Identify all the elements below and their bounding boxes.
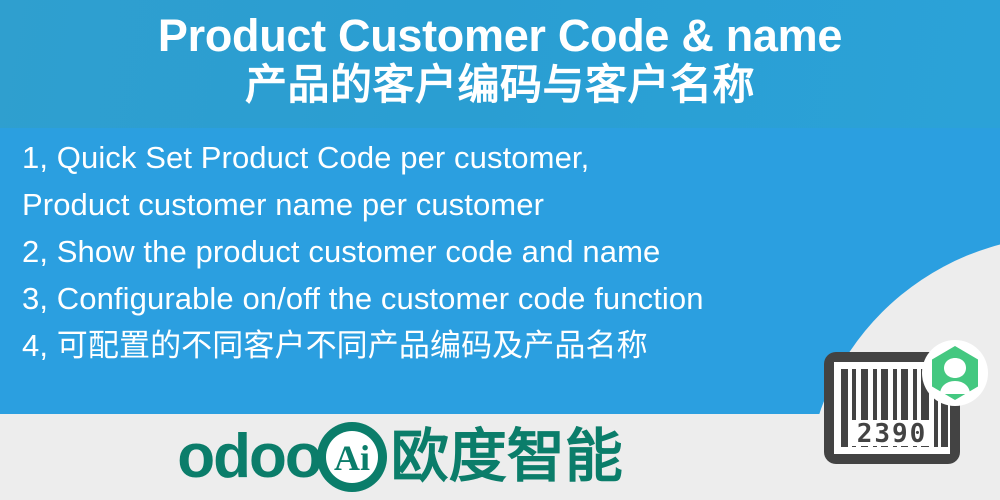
promo-banner: Product Customer Code & name 产品的客户编码与客户名… (0, 0, 1000, 500)
brand-logo: odoo Ai 欧度智能 (177, 420, 623, 494)
feature-line-2: Product customer name per customer (22, 181, 982, 228)
feature-line-1: 1, Quick Set Product Code per customer, (22, 134, 982, 181)
feature-list: 1, Quick Set Product Code per customer, … (22, 134, 982, 369)
brand-wordmark-cn: 欧度智能 (391, 428, 623, 486)
page-title: Product Customer Code & name (158, 0, 842, 62)
page-subtitle: 产品的客户编码与客户名称 (245, 62, 755, 108)
ai-badge-label: Ai (334, 438, 370, 478)
feature-line-4: 3, Configurable on/off the customer code… (22, 275, 982, 322)
barcode-illustration: 2390 (820, 338, 990, 470)
barcode-number: 2390 (857, 419, 928, 449)
brand-wordmark: odoo (177, 426, 321, 488)
feature-line-3: 2, Show the product customer code and na… (22, 228, 982, 275)
ai-badge-icon: Ai (315, 420, 389, 494)
customer-badge-icon (922, 340, 988, 406)
banner-header: Product Customer Code & name 产品的客户编码与客户名… (0, 0, 1000, 128)
